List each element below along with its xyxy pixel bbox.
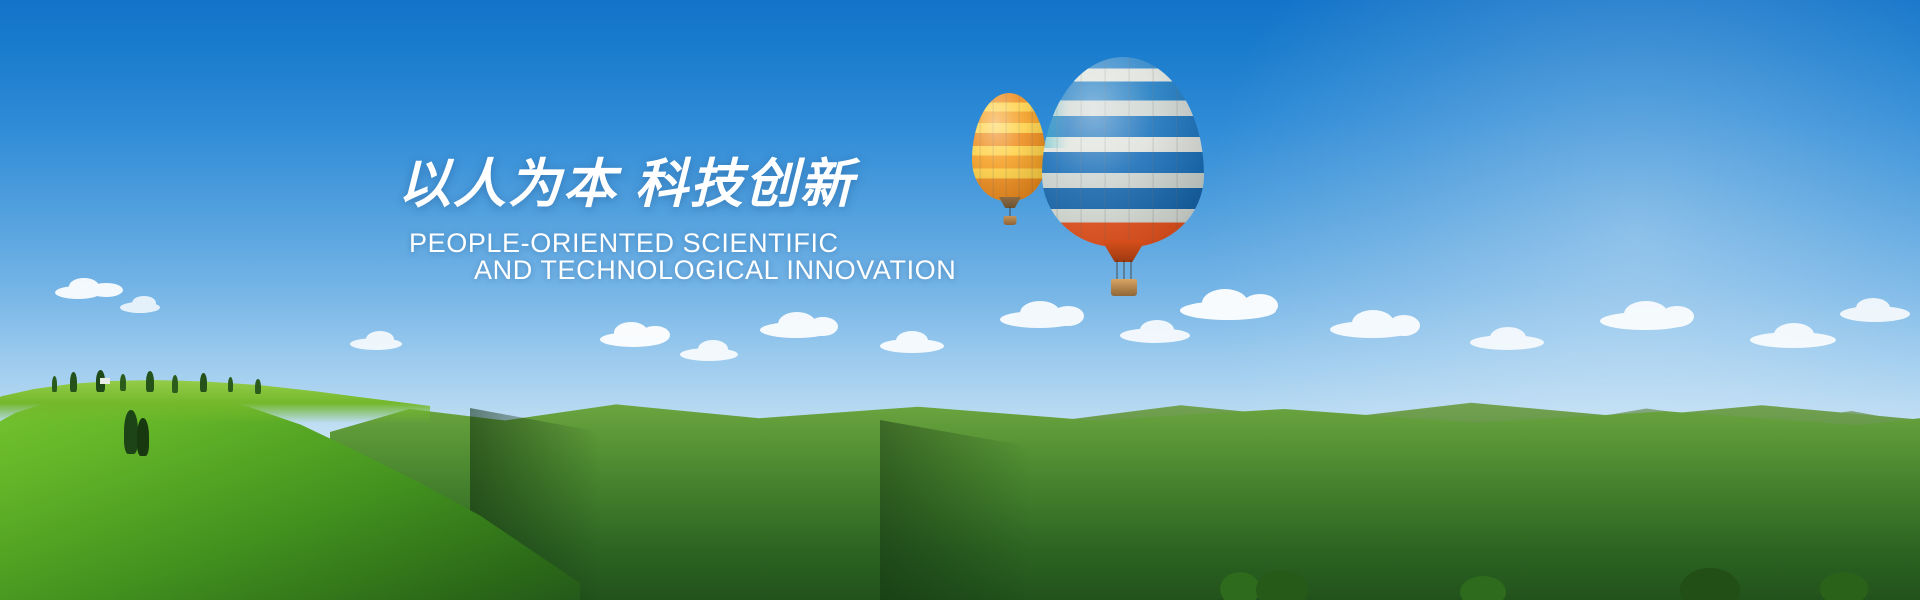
hero-banner: 以人为本 科技创新 PEOPLE-ORIENTED SCIENTIFIC AND… xyxy=(0,0,1920,600)
banner-text-block: 以人为本 科技创新 PEOPLE-ORIENTED SCIENTIFIC AND… xyxy=(0,0,1920,600)
banner-headline: 以人为本 科技创新 xyxy=(398,142,855,218)
banner-subtitle-line-2: AND TECHNOLOGICAL INNOVATION xyxy=(474,255,956,286)
